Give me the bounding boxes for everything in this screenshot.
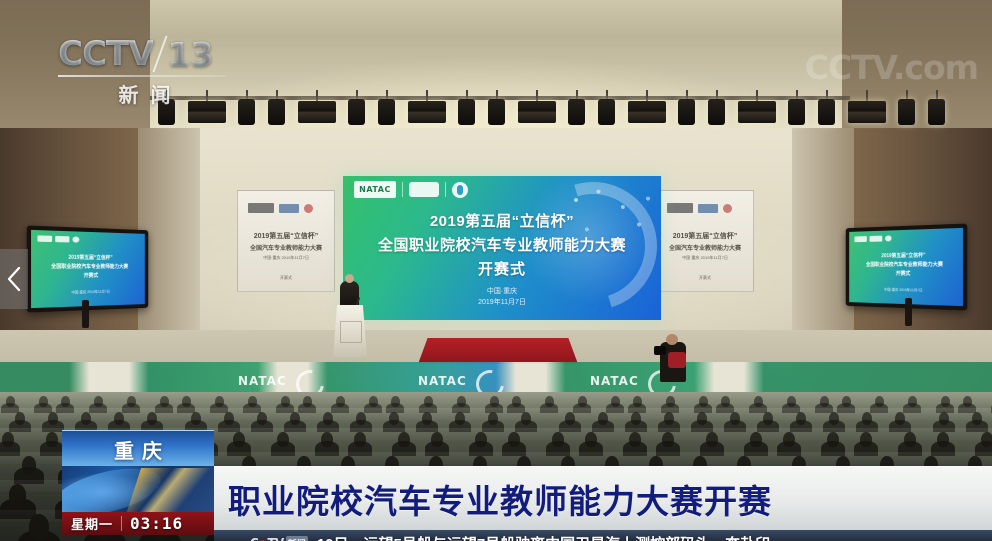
- audience-member: [754, 396, 763, 407]
- audience-member: [832, 514, 852, 540]
- audience-member: [61, 396, 70, 407]
- audience-member: [963, 396, 972, 407]
- audience-member: [94, 396, 103, 407]
- audience-member: [647, 484, 664, 506]
- audience-member: [391, 396, 400, 407]
- emblem-logo-icon: [72, 236, 79, 242]
- natac-logo-icon: NATAC: [354, 181, 396, 198]
- audience-member: [972, 412, 982, 425]
- stage-light-icon: [598, 99, 615, 125]
- audience-member: [842, 396, 851, 407]
- audience-member: [281, 396, 290, 407]
- audience-member: [699, 396, 708, 407]
- audience-member: [633, 396, 642, 407]
- side-panel-line4: 开赛式: [657, 275, 753, 281]
- audience-member: [924, 456, 938, 474]
- logo-divider: [402, 182, 403, 197]
- audience-member: [730, 412, 740, 425]
- audience-member: [693, 456, 707, 474]
- natac-logo-icon: [667, 203, 693, 213]
- audience-member: [242, 456, 256, 474]
- audience-member: [200, 432, 212, 447]
- audience-member: [321, 432, 333, 447]
- audience-member: [369, 396, 378, 407]
- audience-member: [697, 412, 707, 425]
- audience-member: [66, 456, 80, 474]
- audience-member: [552, 432, 564, 447]
- screen-footer: 中国·重庆 2019年11月7日: [343, 286, 661, 308]
- audience-member: [537, 484, 554, 506]
- audience-member: [590, 514, 610, 540]
- audience-member: [521, 412, 531, 425]
- stage-light-icon: [378, 99, 395, 125]
- monitor-logo-row: [37, 235, 79, 242]
- audience-member: [862, 412, 872, 425]
- monitor-logo-row: [854, 235, 891, 242]
- audience-member: [473, 456, 487, 474]
- audience-member: [160, 396, 169, 407]
- stage-light-icon: [678, 99, 695, 125]
- stage-light-icon: [708, 99, 725, 125]
- audience-member: [721, 396, 730, 407]
- side-panel-line1: 2019第五届“立信杯”: [657, 231, 753, 241]
- monitor-mount-right: [905, 298, 912, 326]
- audience-member: [9, 484, 26, 506]
- audience-member: [664, 412, 674, 425]
- emblem-logo-icon: [304, 204, 313, 213]
- audience-member: [711, 514, 731, 540]
- audience-member: [829, 412, 839, 425]
- stage-side-panel-right: 2019第五届“立信杯” 全国汽车专业教师能力大赛 中国·重庆 2019年11月…: [656, 190, 754, 292]
- audience-member: [482, 484, 499, 506]
- screen-title-line2: 全国职业院校汽车专业教师能力大赛: [343, 234, 661, 255]
- stage-light-icon: [848, 101, 886, 123]
- screen-title-line3: 开赛式: [343, 258, 661, 279]
- audience-member: [856, 484, 873, 506]
- audience-member: [508, 432, 520, 447]
- audience-member: [801, 484, 818, 506]
- audience-member: [666, 396, 675, 407]
- lamp-stem: [426, 90, 428, 101]
- audience-member: [895, 412, 905, 425]
- audience-member: [880, 456, 894, 474]
- audience-member: [110, 456, 124, 474]
- audience-member: [706, 432, 718, 447]
- lamp-stem: [206, 90, 208, 101]
- monitor-line3: 开赛式: [31, 272, 145, 280]
- audience-member: [389, 412, 399, 425]
- audience-member: [517, 456, 531, 474]
- emblem-logo-icon: [885, 235, 892, 241]
- audience-member: [328, 484, 345, 506]
- screen-title-line1: 2019第五届“立信杯”: [343, 210, 661, 231]
- monitor-line2: 全国职业院校汽车专业教师能力大赛: [31, 263, 145, 270]
- audience-member: [662, 432, 674, 447]
- seat-row: [0, 428, 992, 440]
- audience-member: [629, 432, 641, 447]
- monitor-line3: 开赛式: [849, 270, 963, 278]
- audience-member: [198, 456, 212, 474]
- audience-member: [248, 396, 257, 407]
- audience-member: [191, 412, 201, 425]
- screen-title-block: 2019第五届“立信杯” 全国职业院校汽车专业教师能力大赛 开赛式: [343, 210, 661, 279]
- sponsor-logo-icon: [55, 236, 69, 243]
- audience-member: [422, 412, 432, 425]
- audience-member: [429, 456, 443, 474]
- audience-member: [438, 484, 455, 506]
- audience-member: [796, 412, 806, 425]
- stage-light-icon: [488, 99, 505, 125]
- sponsor-logo-icon: [279, 204, 299, 213]
- audience-member: [216, 514, 236, 540]
- audience-member: [860, 432, 872, 447]
- audience-member: [6, 396, 15, 407]
- audience-member: [966, 484, 983, 506]
- audience-member: [2, 432, 14, 447]
- audience-member: [218, 484, 235, 506]
- previous-arrow-button[interactable]: [0, 249, 28, 309]
- ceiling-left-shadow: [0, 0, 150, 132]
- lamp-stem: [756, 90, 758, 101]
- audience-member: [323, 412, 333, 425]
- audience-member: [750, 432, 762, 447]
- audience-member: [908, 396, 917, 407]
- audience-member: [578, 396, 587, 407]
- audience-member: [898, 514, 918, 540]
- stage-side-panel-left: 2019第五届“立信杯” 全国汽车专业教师能力大赛 中国·重庆 2019年11月…: [237, 190, 335, 292]
- audience-member: [649, 456, 663, 474]
- stage-light-icon: [408, 101, 446, 123]
- audience-member: [702, 484, 719, 506]
- audience-member: [545, 396, 554, 407]
- audience-member: [277, 432, 289, 447]
- stage-light-icon: [188, 101, 226, 123]
- stage-light-icon: [158, 99, 175, 125]
- audience-member: [336, 396, 345, 407]
- lamp-stem: [646, 90, 648, 101]
- monitor-line1: 2019第五届“立信杯”: [849, 251, 963, 259]
- audience-member: [787, 396, 796, 407]
- audience-member: [156, 432, 168, 447]
- side-panel-logo-row: [667, 203, 732, 213]
- emblem-logo-icon: [452, 182, 468, 198]
- operator-vest: [668, 352, 686, 368]
- side-panel-logo-row: [248, 203, 313, 213]
- stage-light-icon: [458, 99, 475, 125]
- podium: [333, 305, 367, 357]
- stage-light-icon: [898, 99, 915, 125]
- stage-light-icon: [738, 101, 776, 123]
- audience-member: [457, 396, 466, 407]
- audience-member: [95, 514, 115, 540]
- audience-member: [512, 396, 521, 407]
- audience-member: [763, 412, 773, 425]
- stage-light-icon: [298, 101, 336, 123]
- audience-member: [565, 412, 575, 425]
- auditorium-scene: 2019第五届“立信杯” 全国职业院校汽车专业教师能力大赛 开赛式 中国·重庆 …: [0, 0, 992, 541]
- audience-member: [354, 432, 366, 447]
- audience-member: [233, 432, 245, 447]
- audience-member: [431, 432, 443, 447]
- audience-member: [820, 396, 829, 407]
- lamp-stem: [866, 90, 868, 101]
- audience-member: [341, 456, 355, 474]
- side-panel-line3: 中国·重庆 2019年11月7日: [238, 255, 334, 261]
- stage-light-icon: [928, 99, 945, 125]
- sponsor-logo-icon: [870, 236, 883, 242]
- side-panel-line2: 全国汽车专业教师能力大赛: [238, 243, 334, 252]
- banner-mark: NATAC: [238, 374, 287, 388]
- audience-member: [114, 412, 124, 425]
- stage-light-icon: [568, 99, 585, 125]
- main-stage-screen: NATAC 2019第五届“立信杯” 全国职业院校汽车专业教师能力大赛 开赛式 …: [343, 176, 661, 320]
- banner-mark: NATAC: [418, 374, 467, 388]
- audience-member: [385, 456, 399, 474]
- side-panel-line3: 中国·重庆 2019年11月7日: [657, 255, 753, 261]
- audience-member: [403, 514, 423, 540]
- audience-member: [490, 396, 499, 407]
- natac-logo-icon: [854, 236, 866, 242]
- stage-light-icon: [518, 101, 556, 123]
- audience-member: [757, 484, 774, 506]
- audience-member: [424, 396, 433, 407]
- audience-member: [981, 432, 992, 447]
- screen-date: 2019年11月7日: [343, 297, 661, 308]
- audience-member: [475, 432, 487, 447]
- audience-member: [941, 396, 950, 407]
- audience-member: [737, 456, 751, 474]
- audience-member: [215, 396, 224, 407]
- lamp-stem: [316, 90, 318, 101]
- side-panel-line4: 开赛式: [238, 275, 334, 281]
- audience-member: [22, 456, 36, 474]
- audience-member: [224, 412, 234, 425]
- audience-member: [257, 412, 267, 425]
- audience-member: [488, 412, 498, 425]
- audience-member: [645, 514, 665, 540]
- side-panel-line2: 全国汽车专业教师能力大赛: [657, 243, 753, 252]
- audience-member: [297, 456, 311, 474]
- audience-member: [939, 412, 949, 425]
- audience-member: [64, 484, 81, 506]
- audience-member: [827, 432, 839, 447]
- audience-member: [182, 396, 191, 407]
- monitor-footer: 中国·重庆 2019年11月7日: [849, 287, 963, 295]
- stage-light-icon: [238, 99, 255, 125]
- audience-member: [631, 412, 641, 425]
- monitor-line1: 2019第五届“立信杯”: [31, 253, 145, 261]
- sponsor-logo-icon: [409, 182, 439, 197]
- audience-member: [783, 432, 795, 447]
- audience-member: [455, 412, 465, 425]
- screen-logo-row: NATAC: [354, 181, 468, 198]
- audience-member: [79, 432, 91, 447]
- audience-member: [15, 412, 25, 425]
- audience-member: [911, 484, 928, 506]
- audience-member: [592, 484, 609, 506]
- audience-member: [598, 412, 608, 425]
- audience-member: [282, 514, 302, 540]
- screen-place: 中国·重庆: [343, 286, 661, 297]
- audience-member: [119, 484, 136, 506]
- audience-member: [561, 456, 575, 474]
- audience-member: [273, 484, 290, 506]
- audience-member: [836, 456, 850, 474]
- stage-light-icon: [628, 101, 666, 123]
- stage-light-icon: [818, 99, 835, 125]
- video-frame: 2019第五届“立信杯” 全国职业院校汽车专业教师能力大赛 开赛式 中国·重庆 …: [0, 0, 992, 541]
- natac-logo-icon: [248, 203, 274, 213]
- audience-member: [46, 432, 58, 447]
- audience-member: [303, 396, 312, 407]
- audience-member: [792, 456, 806, 474]
- audience-member: [904, 432, 916, 447]
- audience-member: [48, 412, 58, 425]
- stage-light-icon: [788, 99, 805, 125]
- sponsor-logo-icon: [698, 204, 718, 213]
- audience-member: [875, 396, 884, 407]
- audience-member: [337, 514, 357, 540]
- audience-member: [524, 514, 544, 540]
- audience-member: [29, 514, 49, 540]
- audience-member: [398, 432, 410, 447]
- audience-member: [290, 412, 300, 425]
- logo-divider: [445, 182, 446, 197]
- audience-member: [611, 396, 620, 407]
- audience-member: [585, 432, 597, 447]
- audience-member: [39, 396, 48, 407]
- audience-member: [937, 432, 949, 447]
- monitor-footer: 中国·重庆 2019年11月7日: [31, 289, 145, 297]
- natac-logo-icon: [37, 235, 52, 242]
- audience-member: [968, 456, 982, 474]
- monitor-line2: 全国职业院校汽车专业教师能力大赛: [849, 261, 963, 268]
- audience-member: [356, 412, 366, 425]
- audience-member: [605, 456, 619, 474]
- stage-light-icon: [348, 99, 365, 125]
- monitor-mount-left: [82, 300, 89, 328]
- side-panel-line1: 2019第五届“立信杯”: [238, 231, 334, 241]
- audience-member: [469, 514, 489, 540]
- audience-member: [127, 396, 136, 407]
- audience-member: [777, 514, 797, 540]
- audience-member: [123, 432, 135, 447]
- emblem-logo-icon: [723, 204, 732, 213]
- stage-light-icon: [268, 99, 285, 125]
- audience-member: [147, 412, 157, 425]
- banner-mark: NATAC: [590, 374, 639, 388]
- red-carpet: [418, 338, 578, 364]
- audience-member: [383, 484, 400, 506]
- audience-member: [150, 514, 170, 540]
- audience-member: [81, 412, 91, 425]
- audience-member: [964, 514, 984, 540]
- audience-area: [0, 392, 992, 541]
- lamp-stem: [536, 90, 538, 101]
- audience-member: [174, 484, 191, 506]
- audience-member: [154, 456, 168, 474]
